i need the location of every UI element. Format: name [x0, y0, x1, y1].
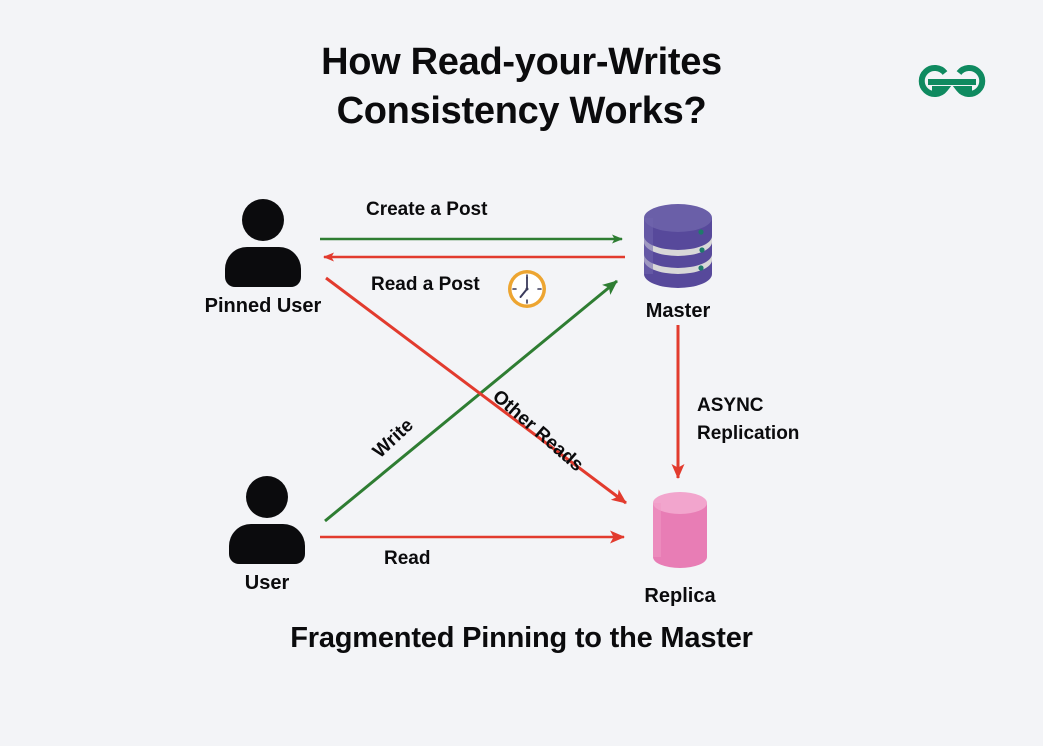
- replica-label: Replica: [610, 585, 750, 608]
- node-user[interactable]: User: [207, 476, 327, 595]
- edge-label-other-reads: Other Reads: [488, 386, 588, 477]
- edge-label-read: Read: [384, 548, 430, 570]
- arrow-other-reads: [326, 278, 626, 503]
- clock-icon: [506, 268, 548, 310]
- edge-label-read-a-post: Read a Post: [371, 274, 480, 296]
- footer-caption: Fragmented Pinning to the Master: [0, 622, 1043, 655]
- user-icon-head: [246, 476, 288, 518]
- geeksforgeeks-logo: [912, 57, 992, 101]
- master-label: Master: [608, 300, 748, 323]
- arrow-write: [325, 281, 617, 521]
- user-icon-head: [242, 199, 284, 241]
- edge-label-async-replication: ASYNC Replication: [697, 392, 799, 447]
- node-master[interactable]: Master: [608, 202, 748, 323]
- database-cylinder-icon: [640, 487, 720, 575]
- node-pinned-user[interactable]: Pinned User: [203, 199, 323, 318]
- edge-label-create-a-post: Create a Post: [366, 199, 487, 221]
- user-icon: [225, 199, 301, 281]
- title-line-2: Consistency Works?: [150, 87, 893, 136]
- diagram-canvas: How Read-your-Writes Consistency Works?: [0, 0, 1043, 746]
- user-icon-body: [225, 247, 301, 287]
- title-line-1: How Read-your-Writes: [321, 41, 722, 83]
- async-label-line-1: ASYNC: [697, 392, 799, 420]
- database-cylinder-icon: [638, 202, 718, 290]
- user-label: User: [207, 572, 327, 595]
- edge-label-write: Write: [369, 415, 419, 463]
- user-icon-body: [229, 524, 305, 564]
- user-icon: [229, 476, 305, 558]
- async-label-line-2: Replication: [697, 420, 799, 448]
- pinned-user-label: Pinned User: [203, 295, 323, 318]
- node-replica[interactable]: Replica: [610, 487, 750, 608]
- page-title: How Read-your-Writes Consistency Works?: [0, 38, 1043, 137]
